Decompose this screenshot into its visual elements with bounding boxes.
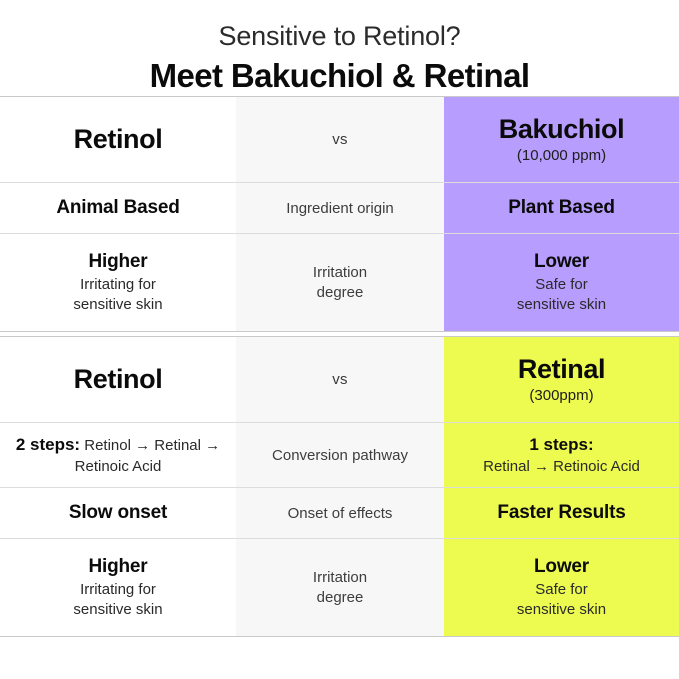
header-subtitle: Sensitive to Retinol? <box>0 21 679 52</box>
cell-retinol: HigherIrritating forsensitive skin <box>0 234 236 331</box>
cell-bakuchiol: Plant Based <box>444 183 679 233</box>
cell-value-secondary: (300ppm) <box>529 387 593 406</box>
table-row: Slow onsetOnset of effectsFaster Results <box>0 488 679 539</box>
cell-value-primary: Retinol <box>74 124 163 156</box>
cell-value-primary: Retinol <box>74 364 163 396</box>
cell-retinal: LowerSafe forsensitive skin <box>444 539 679 636</box>
cell-value-primary: Higher <box>89 556 148 579</box>
table-row: HigherIrritating forsensitive skinIrrita… <box>0 234 679 331</box>
page-title: Meet Bakuchiol & Retinal <box>0 56 679 96</box>
comparison-tables: RetinolvsBakuchiol(10,000 ppm)Animal Bas… <box>0 96 679 637</box>
cell-value-primary: Higher <box>89 251 148 274</box>
cell-attribute-label: Ingredient origin <box>236 183 444 233</box>
cell-attribute-label: Irritationdegree <box>236 234 444 331</box>
cell-value-primary: Animal Based <box>56 197 179 220</box>
cell-value-primary: Slow onset <box>69 502 167 525</box>
cell-attribute-label: vs <box>236 97 444 182</box>
cell-value-secondary: Safe forsensitive skin <box>517 275 606 314</box>
comparison-table-bakuchiol: RetinolvsBakuchiol(10,000 ppm)Animal Bas… <box>0 96 679 332</box>
cell-retinol: Retinol <box>0 97 236 182</box>
attribute-label-text: Irritationdegree <box>313 568 367 607</box>
cell-value-primary: Bakuchiol <box>499 114 624 146</box>
cell-attribute-label: Onset of effects <box>236 488 444 538</box>
cell-retinol: Animal Based <box>0 183 236 233</box>
cell-value-secondary: Irritating forsensitive skin <box>73 580 162 619</box>
cell-attribute-label: Irritationdegree <box>236 539 444 636</box>
cell-bakuchiol: LowerSafe forsensitive skin <box>444 234 679 331</box>
attribute-label-text: Irritationdegree <box>313 263 367 302</box>
cell-retinol: Slow onset <box>0 488 236 538</box>
conversion-text-left: 2 steps: Retinol → Retinal → Retinoic Ac… <box>8 434 228 476</box>
header: Sensitive to Retinol? Meet Bakuchiol & R… <box>0 0 679 96</box>
table-row: RetinolvsRetinal(300ppm) <box>0 337 679 423</box>
table-row: HigherIrritating forsensitive skinIrrita… <box>0 539 679 636</box>
cell-value-secondary: Irritating forsensitive skin <box>73 275 162 314</box>
table-row: Animal BasedIngredient originPlant Based <box>0 183 679 234</box>
comparison-table-retinal: RetinolvsRetinal(300ppm)2 steps: Retinol… <box>0 336 679 637</box>
cell-retinol: 2 steps: Retinol → Retinal → Retinoic Ac… <box>0 423 236 487</box>
attribute-label-text: vs <box>332 371 347 388</box>
comparison-infographic: Sensitive to Retinol? Meet Bakuchiol & R… <box>0 0 679 679</box>
cell-retinal: Faster Results <box>444 488 679 538</box>
cell-retinol: Retinol <box>0 337 236 422</box>
attribute-label-text: vs <box>332 131 347 148</box>
cell-retinal: 1 steps:Retinal → Retinoic Acid <box>444 423 679 487</box>
cell-retinal: Retinal(300ppm) <box>444 337 679 422</box>
attribute-label-text: Conversion pathway <box>272 446 408 466</box>
cell-attribute-label: Conversion pathway <box>236 423 444 487</box>
cell-value-primary: Lower <box>534 251 589 274</box>
cell-value-primary: Faster Results <box>497 502 625 525</box>
cell-value-secondary: Safe forsensitive skin <box>517 580 606 619</box>
cell-value-primary: Retinal <box>518 354 605 386</box>
attribute-label-text: Ingredient origin <box>286 199 394 219</box>
cell-bakuchiol: Bakuchiol(10,000 ppm) <box>444 97 679 182</box>
cell-value-primary: Plant Based <box>508 197 615 220</box>
table-row: 2 steps: Retinol → Retinal → Retinoic Ac… <box>0 423 679 488</box>
conversion-text-right: 1 steps:Retinal → Retinoic Acid <box>483 434 640 476</box>
cell-value-secondary: (10,000 ppm) <box>517 147 606 166</box>
cell-value-primary: Lower <box>534 556 589 579</box>
table-row: RetinolvsBakuchiol(10,000 ppm) <box>0 97 679 183</box>
cell-attribute-label: vs <box>236 337 444 422</box>
attribute-label-text: Onset of effects <box>288 504 393 524</box>
cell-retinol: HigherIrritating forsensitive skin <box>0 539 236 636</box>
